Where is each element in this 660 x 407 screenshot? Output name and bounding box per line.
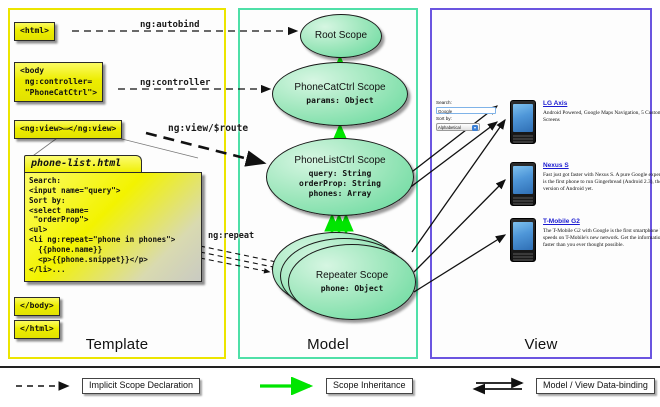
legend-item-inheritance: Scope Inheritance (258, 377, 413, 395)
green-arrow-icon (258, 377, 320, 395)
phone-name-link[interactable]: LG Axis (543, 100, 660, 107)
phone-text: T-Mobile G2 The T-Mobile G2 with Google … (543, 218, 660, 249)
scope-root-name: Root Scope (315, 30, 367, 41)
scope-phonelistctrl-name: PhoneListCtrl Scope (294, 155, 385, 166)
phone-thumbnail-icon (510, 100, 536, 144)
legend: Implicit Scope Declaration Scope Inherit… (0, 366, 660, 407)
chevron-down-icon: ▾ (472, 125, 478, 131)
diagram-canvas: Template Model View (0, 0, 660, 405)
sort-select-value: Alphabetical (438, 125, 461, 130)
edge-label-autobind: ng:autobind (140, 20, 200, 30)
panel-view-label: View (432, 336, 650, 353)
phone-snippet: Fast just got faster with Nexus S. A pur… (543, 172, 660, 193)
phone-thumbnail-icon (510, 162, 536, 206)
scope-phonecatctrl-name: PhoneCatCtrl Scope (294, 82, 385, 93)
note-title: phone-list.html (31, 158, 121, 169)
phone-name-link[interactable]: T-Mobile G2 (543, 218, 660, 225)
phone-name-link[interactable]: Nexus S (543, 162, 660, 169)
note-tab: phone-list.html (24, 155, 142, 173)
search-input[interactable]: Google (436, 107, 496, 114)
code-tag-html-close: </html> (14, 320, 60, 339)
scope-root: Root Scope (300, 14, 382, 58)
phone-thumbnail-icon (510, 218, 536, 262)
dashed-arrow-icon (14, 377, 76, 395)
search-label: Search: (436, 100, 498, 107)
phone-list-note: phone-list.html Search: <input name="que… (24, 155, 204, 290)
scope-repeater: Repeater Scope phone: Object (288, 244, 416, 320)
scope-phonelistctrl: PhoneListCtrl Scope query: String orderP… (266, 138, 414, 216)
phone-snippet: The T-Mobile G2 with Google is the first… (543, 228, 660, 249)
scope-phonecatctrl-props: params: Object (306, 96, 373, 106)
code-tag-body-open: <body ng:controller= "PhoneCatCtrl"> (14, 62, 103, 102)
sort-label: Sort by: (436, 116, 498, 123)
search-form: Search: Google Sort by: Alphabetical ▾ (436, 100, 498, 131)
double-arrow-icon (468, 377, 530, 395)
legend-label-databinding: Model / View Data-binding (536, 378, 655, 394)
scope-repeater-props: phone: Object (321, 284, 384, 294)
panel-model-label: Model (240, 336, 416, 353)
code-tag-html-open: <html> (14, 22, 55, 41)
scope-repeater-name: Repeater Scope (316, 270, 388, 281)
legend-item-databinding: Model / View Data-binding (468, 377, 655, 395)
note-code: Search: <input name="query"> Sort by: <s… (24, 172, 202, 282)
sort-select[interactable]: Alphabetical ▾ (436, 123, 480, 131)
legend-item-implicit: Implicit Scope Declaration (14, 377, 200, 395)
phone-text: LG Axis Android Powered, Google Maps Nav… (543, 100, 660, 124)
edge-label-repeat: ng:repeat (208, 231, 254, 241)
edge-label-controller: ng:controller (140, 78, 210, 88)
edge-label-ngview-route: ng:view/$route (168, 123, 248, 134)
legend-label-implicit: Implicit Scope Declaration (82, 378, 200, 394)
scope-phonecatctrl: PhoneCatCtrl Scope params: Object (272, 62, 408, 126)
code-tag-body-close: </body> (14, 297, 60, 316)
phone-text: Nexus S Fast just got faster with Nexus … (543, 162, 660, 193)
legend-label-inheritance: Scope Inheritance (326, 378, 413, 394)
scope-phonelistctrl-props: query: String orderProp: String phones: … (299, 169, 381, 199)
phone-snippet: Android Powered, Google Maps Navigation,… (543, 110, 660, 124)
code-tag-ngview: <ng:view>▭</ng:view> (14, 120, 122, 139)
